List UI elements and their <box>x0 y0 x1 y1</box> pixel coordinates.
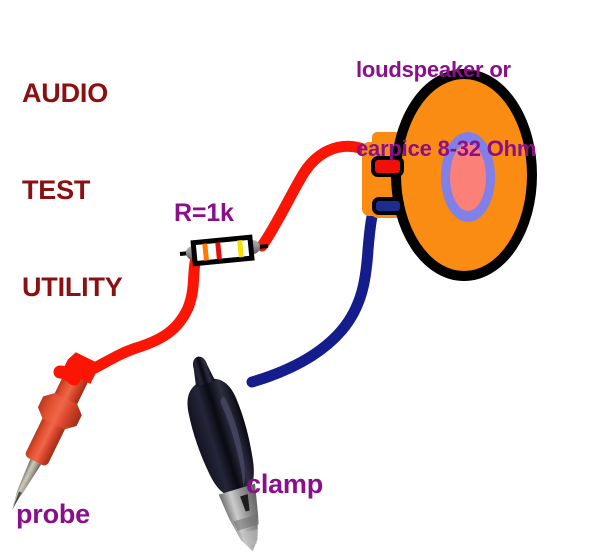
loudspeaker-label-line-2: earpice 8-32 Ohm <box>356 136 536 162</box>
test-probe <box>0 348 105 520</box>
clamp-label: clamp <box>246 468 323 500</box>
page-title: AUDIO TEST UTILITY <box>22 12 123 368</box>
resistor-value-label: R=1k <box>174 198 234 228</box>
loudspeaker-label-line-1: loudspeaker or <box>356 57 536 83</box>
title-line-3: UTILITY <box>22 271 123 303</box>
title-line-1: AUDIO <box>22 77 123 109</box>
probe-label: probe <box>16 498 90 530</box>
audio-test-utility-diagram: AUDIO TEST UTILITY loudspeaker or earpic… <box>0 0 611 554</box>
loudspeaker-label: loudspeaker or earpice 8-32 Ohm <box>356 4 536 215</box>
resistor <box>180 237 268 263</box>
title-line-2: TEST <box>22 174 123 206</box>
